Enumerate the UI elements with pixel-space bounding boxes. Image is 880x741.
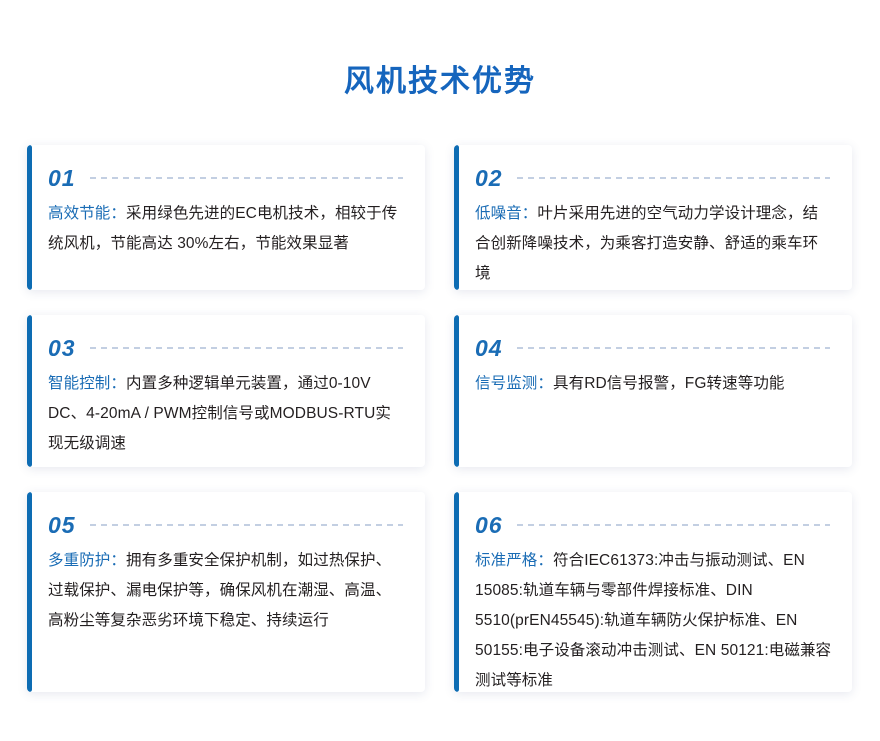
advantage-card-02: 02 低噪音：叶片采用先进的空气动力学设计理念，结合创新降噪技术，为乘客打造安静… [454, 145, 852, 290]
card-header: 06 [475, 510, 832, 540]
card-header: 05 [48, 510, 405, 540]
dashed-divider [90, 347, 403, 349]
dashed-divider [90, 177, 403, 179]
card-number: 03 [48, 335, 76, 361]
dashed-divider [517, 177, 830, 179]
card-text: 符合IEC61373:冲击与振动测试、EN 15085:轨道车辆与零部件焊接标准… [475, 552, 831, 689]
card-number: 04 [475, 335, 503, 361]
advantage-card-04: 04 信号监测：具有RD信号报警，FG转速等功能 [454, 315, 852, 467]
card-number: 05 [48, 512, 76, 538]
card-header: 02 [475, 163, 832, 193]
card-label: 标准严格： [475, 552, 553, 569]
card-body: 信号监测：具有RD信号报警，FG转速等功能 [475, 369, 832, 399]
card-label: 低噪音： [475, 205, 537, 222]
card-accent-bar [454, 315, 459, 467]
card-accent-bar [27, 145, 32, 290]
dashed-divider [517, 347, 830, 349]
dashed-divider [517, 524, 830, 526]
card-text: 具有RD信号报警，FG转速等功能 [553, 375, 785, 392]
advantage-card-05: 05 多重防护：拥有多重安全保护机制，如过热保护、过载保护、漏电保护等，确保风机… [27, 492, 425, 692]
advantage-card-01: 01 高效节能：采用绿色先进的EC电机技术，相较于传统风机，节能高达 30%左右… [27, 145, 425, 290]
card-accent-bar [27, 492, 32, 692]
card-accent-bar [27, 315, 32, 467]
dashed-divider [90, 524, 403, 526]
advantage-card-03: 03 智能控制：内置多种逻辑单元装置，通过0-10V DC、4-20mA / P… [27, 315, 425, 467]
card-header: 04 [475, 333, 832, 363]
card-body: 低噪音：叶片采用先进的空气动力学设计理念，结合创新降噪技术，为乘客打造安静、舒适… [475, 199, 832, 289]
card-body: 标准严格：符合IEC61373:冲击与振动测试、EN 15085:轨道车辆与零部… [475, 546, 832, 692]
card-label: 智能控制： [48, 375, 126, 392]
card-body: 多重防护：拥有多重安全保护机制，如过热保护、过载保护、漏电保护等，确保风机在潮湿… [48, 546, 405, 636]
card-header: 01 [48, 163, 405, 193]
page-root: 风机技术优势 01 高效节能：采用绿色先进的EC电机技术，相较于传统风机，节能高… [0, 0, 880, 741]
card-label: 信号监测： [475, 375, 553, 392]
card-accent-bar [454, 492, 459, 692]
card-body: 高效节能：采用绿色先进的EC电机技术，相较于传统风机，节能高达 30%左右，节能… [48, 199, 405, 259]
card-number: 02 [475, 165, 503, 191]
card-accent-bar [454, 145, 459, 290]
card-number: 06 [475, 512, 503, 538]
page-title: 风机技术优势 [0, 0, 880, 102]
card-label: 多重防护： [48, 552, 126, 569]
card-number: 01 [48, 165, 76, 191]
advantage-card-06: 06 标准严格：符合IEC61373:冲击与振动测试、EN 15085:轨道车辆… [454, 492, 852, 692]
card-label: 高效节能： [48, 205, 126, 222]
card-body: 智能控制：内置多种逻辑单元装置，通过0-10V DC、4-20mA / PWM控… [48, 369, 405, 459]
card-header: 03 [48, 333, 405, 363]
advantage-card-grid: 01 高效节能：采用绿色先进的EC电机技术，相较于传统风机，节能高达 30%左右… [27, 145, 852, 692]
